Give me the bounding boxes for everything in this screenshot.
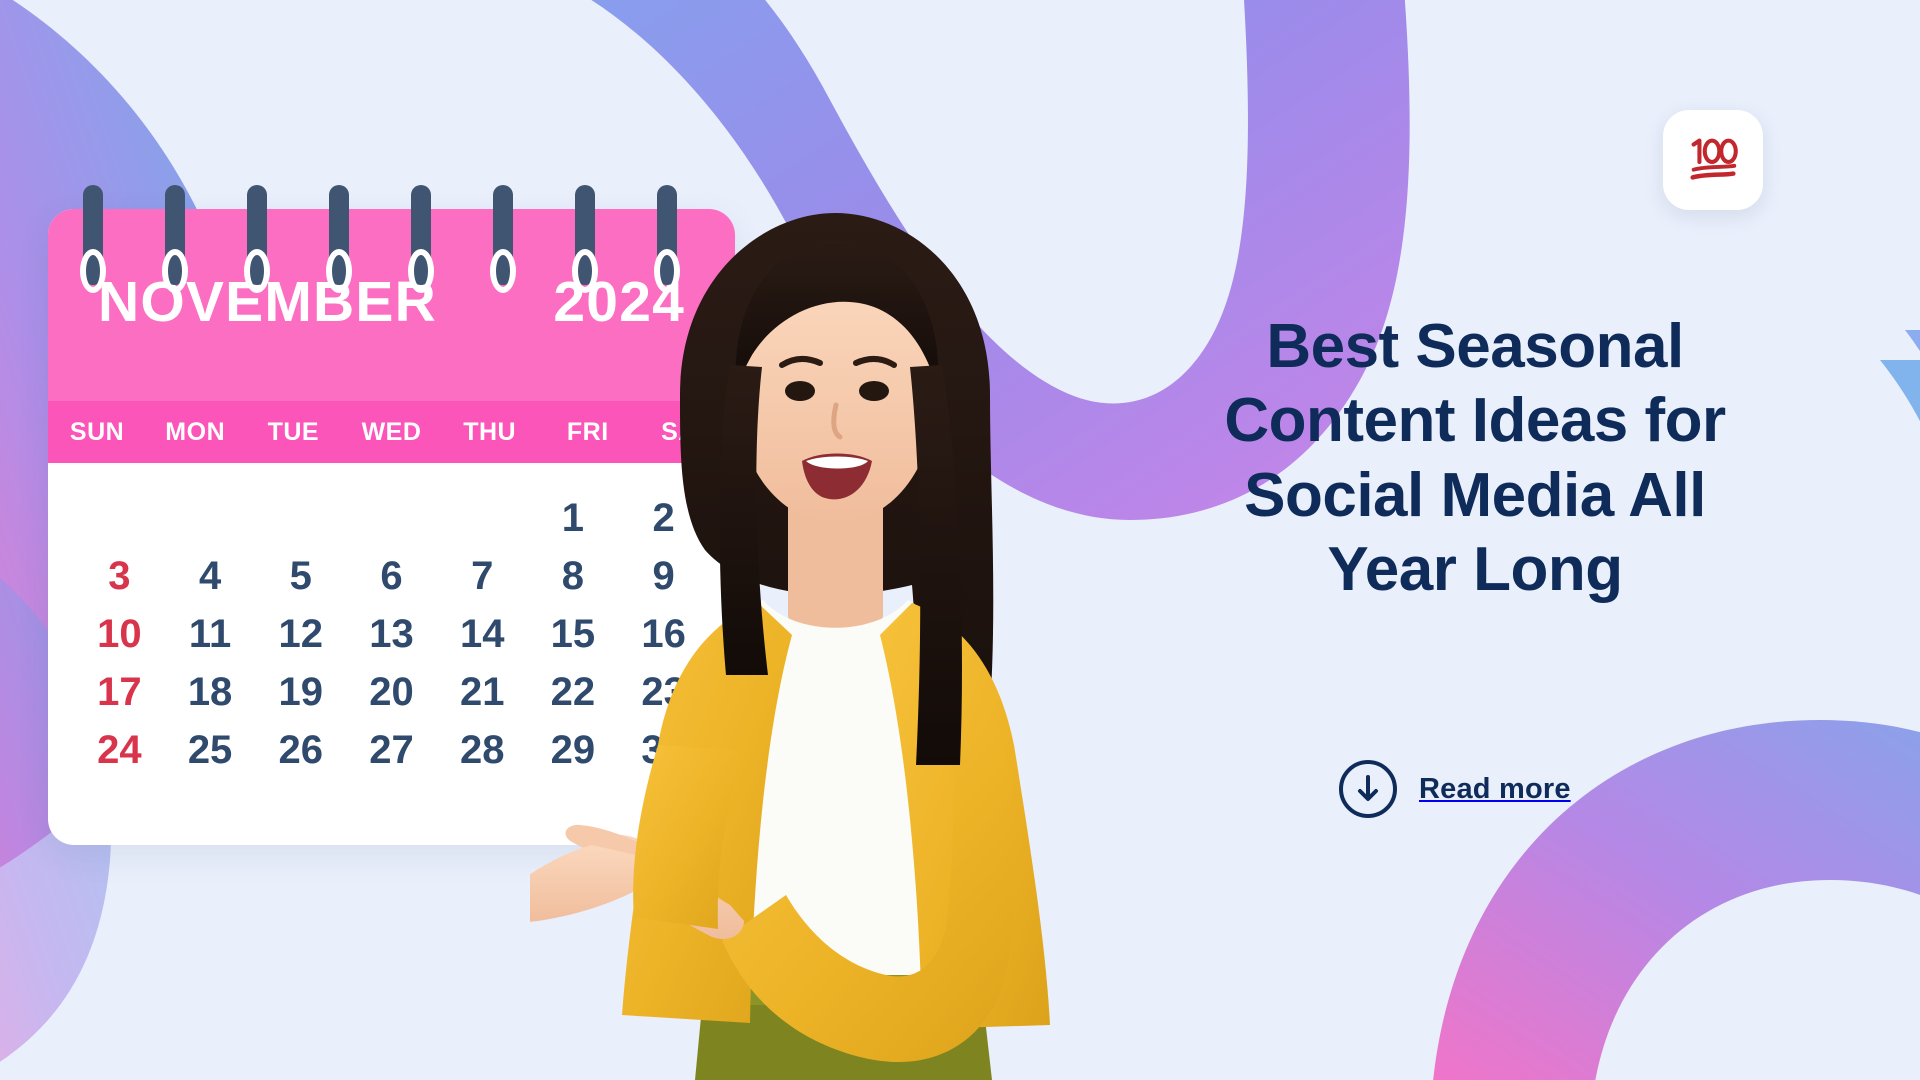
calendar-day: 11 bbox=[165, 612, 256, 657]
hundred-points-badge bbox=[1663, 110, 1763, 210]
calendar-day: 10 bbox=[74, 612, 165, 657]
calendar-day: 28 bbox=[437, 728, 528, 773]
weekday-wed: WED bbox=[342, 418, 440, 447]
calendar-day: 13 bbox=[346, 612, 437, 657]
calendar-day: 4 bbox=[165, 554, 256, 599]
title-line-3: Social Media All bbox=[1105, 459, 1845, 533]
calendar-day: 3 bbox=[74, 554, 165, 599]
read-more-link[interactable]: Read more bbox=[1339, 760, 1571, 818]
hundred-points-emoji-icon bbox=[1682, 129, 1744, 191]
calendar-day: 12 bbox=[255, 612, 346, 657]
calendar-ring bbox=[244, 185, 270, 293]
title-line-4: Year Long bbox=[1105, 533, 1845, 607]
weekday-mon: MON bbox=[146, 418, 244, 447]
eye-right bbox=[859, 381, 889, 401]
calendar-ring-hole bbox=[490, 249, 516, 293]
calendar-ring bbox=[408, 185, 434, 293]
calendar-ring-hole bbox=[162, 249, 188, 293]
page-title: Best Seasonal Content Ideas for Social M… bbox=[1105, 310, 1845, 608]
weekday-sun: SUN bbox=[48, 418, 146, 447]
calendar-day: 25 bbox=[165, 728, 256, 773]
calendar-day: 6 bbox=[346, 554, 437, 599]
calendar-ring-hole bbox=[244, 249, 270, 293]
open-palm-hand bbox=[530, 845, 651, 923]
calendar-day: 24 bbox=[74, 728, 165, 773]
title-line-2: Content Ideas for bbox=[1105, 384, 1845, 458]
eye-left bbox=[785, 381, 815, 401]
calendar-day: 18 bbox=[165, 670, 256, 715]
calendar-day: 17 bbox=[74, 670, 165, 715]
calendar-day: 21 bbox=[437, 670, 528, 715]
calendar-ring bbox=[162, 185, 188, 293]
presenter-photo bbox=[530, 205, 1140, 1080]
calendar-ring bbox=[490, 185, 516, 293]
calendar-day: 26 bbox=[255, 728, 346, 773]
calendar-day: 27 bbox=[346, 728, 437, 773]
arrow-down-icon bbox=[1355, 774, 1381, 804]
read-more-label: Read more bbox=[1419, 773, 1571, 806]
calendar-day: 14 bbox=[437, 612, 528, 657]
calendar-ring-hole bbox=[408, 249, 434, 293]
weekday-thu: THU bbox=[441, 418, 539, 447]
calendar-day: 19 bbox=[255, 670, 346, 715]
arrow-down-circle-icon[interactable] bbox=[1339, 760, 1397, 818]
calendar-ring bbox=[80, 185, 106, 293]
calendar-ring-hole bbox=[80, 249, 106, 293]
calendar-day: 5 bbox=[255, 554, 346, 599]
weekday-tue: TUE bbox=[244, 418, 342, 447]
title-line-1: Best Seasonal bbox=[1105, 310, 1845, 384]
calendar-day: 20 bbox=[346, 670, 437, 715]
calendar-ring-hole bbox=[326, 249, 352, 293]
calendar-ring bbox=[326, 185, 352, 293]
calendar-day: 7 bbox=[437, 554, 528, 599]
